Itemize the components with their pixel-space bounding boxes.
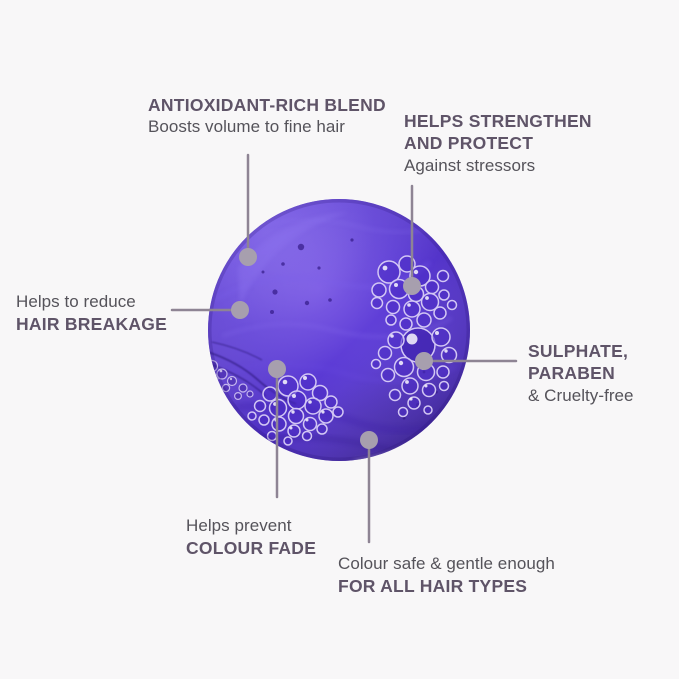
callout-antioxidant-rich-blend: ANTIOXIDANT-RICH BLEND Boosts volume to … xyxy=(148,94,386,138)
callout-sulphate-headline-line2: PARABEN xyxy=(528,362,634,384)
callout-hairtypes-subtext: Colour safe & gentle enough xyxy=(338,553,555,575)
callout-sulphate-headline-line1: SULPHATE, xyxy=(528,340,634,362)
connector-dot-hairtypes xyxy=(360,431,378,449)
callout-strengthen-subtext: Against stressors xyxy=(404,155,592,177)
callout-breakage-headline: HAIR BREAKAGE xyxy=(16,313,167,335)
connector-dot-strengthen xyxy=(403,277,421,295)
callout-colourfade-headline: COLOUR FADE xyxy=(186,537,316,559)
callout-hair-breakage: Helps to reduce HAIR BREAKAGE xyxy=(16,291,167,335)
callout-antioxidant-headline: ANTIOXIDANT-RICH BLEND xyxy=(148,94,386,116)
callout-colourfade-subtext: Helps prevent xyxy=(186,515,316,537)
callout-helps-strengthen-and-protect: HELPS STRENGTHEN AND PROTECT Against str… xyxy=(404,110,592,177)
connector-dot-colourfade xyxy=(268,360,286,378)
callout-colour-fade: Helps prevent COLOUR FADE xyxy=(186,515,316,559)
callout-antioxidant-subtext: Boosts volume to fine hair xyxy=(148,116,386,138)
connector-dot-sulphate xyxy=(415,352,433,370)
callout-strengthen-headline-line1: HELPS STRENGTHEN xyxy=(404,110,592,132)
callout-sulphate-subtext: & Cruelty-free xyxy=(528,385,634,407)
connector-dot-antioxidant xyxy=(239,248,257,266)
callout-for-all-hair-types: Colour safe & gentle enough FOR ALL HAIR… xyxy=(338,553,555,597)
callout-breakage-subtext: Helps to reduce xyxy=(16,291,167,313)
connector-dot-breakage xyxy=(231,301,249,319)
callout-hairtypes-headline: FOR ALL HAIR TYPES xyxy=(338,575,555,597)
infographic-root: ANTIOXIDANT-RICH BLEND Boosts volume to … xyxy=(0,0,679,679)
callout-sulphate-paraben-cruelty-free: SULPHATE, PARABEN & Cruelty-free xyxy=(528,340,634,407)
callout-strengthen-headline-line2: AND PROTECT xyxy=(404,132,592,154)
